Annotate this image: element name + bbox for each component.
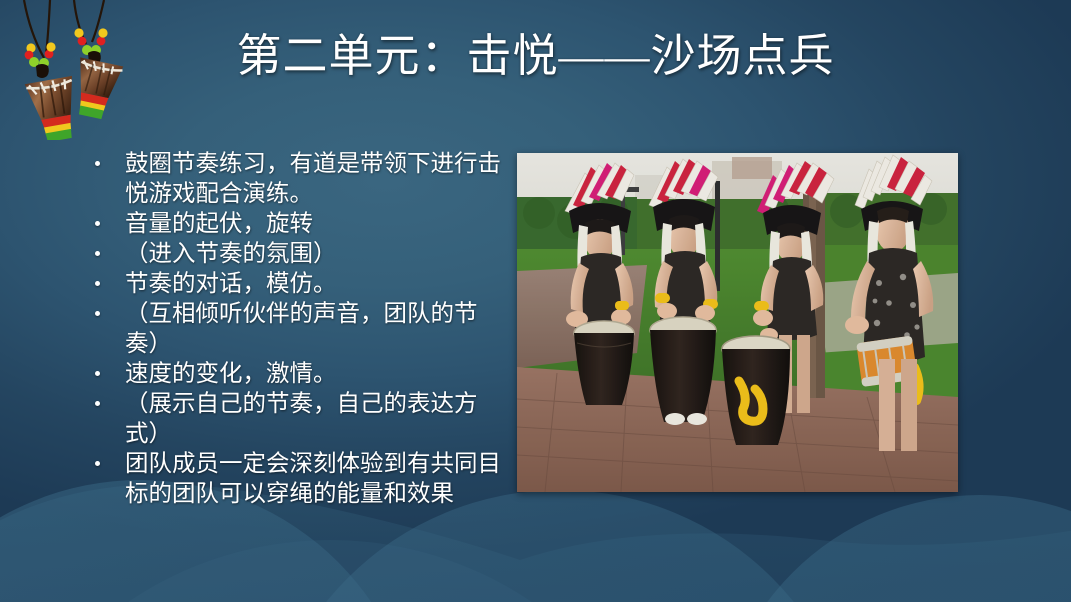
list-item: 速度的变化，激情。 — [90, 359, 510, 389]
presentation-slide: 第二单元：击悦——沙场点兵 鼓圈节奏练习，有道是带领下进行击悦游戏配合演练。 音… — [0, 0, 1071, 602]
list-item-label: 团队成员一定会深刻体验到有共同目标的团队可以穿绳的能量和效果 — [125, 449, 510, 509]
list-item-label: （进入节奏的氛围） — [125, 239, 510, 269]
list-item: （进入节奏的氛围） — [90, 239, 510, 269]
list-item-label: 鼓圈节奏练习，有道是带领下进行击悦游戏配合演练。 — [125, 149, 510, 209]
list-item: （互相倾听伙伴的声音，团队的节奏） — [90, 299, 510, 359]
list-item-label: （展示自己的节奏，自己的表达方式） — [125, 389, 510, 449]
list-item: 音量的起伏，旋转 — [90, 209, 510, 239]
list-item: 节奏的对话，模仿。 — [90, 269, 510, 299]
list-item-label: 音量的起伏，旋转 — [125, 209, 510, 239]
list-item-label: 节奏的对话，模仿。 — [125, 269, 510, 299]
drum-circle-photo — [517, 153, 958, 492]
bullet-marker-icon — [90, 209, 125, 239]
list-item: 团队成员一定会深刻体验到有共同目标的团队可以穿绳的能量和效果 — [90, 449, 510, 509]
bullet-marker-icon — [90, 359, 125, 389]
bullet-marker-icon — [90, 389, 125, 419]
bullet-list: 鼓圈节奏练习，有道是带领下进行击悦游戏配合演练。 音量的起伏，旋转 （进入节奏的… — [90, 149, 510, 509]
list-item: 鼓圈节奏练习，有道是带领下进行击悦游戏配合演练。 — [90, 149, 510, 209]
slide-title: 第二单元：击悦——沙场点兵 — [0, 32, 1071, 82]
list-item: （展示自己的节奏，自己的表达方式） — [90, 389, 510, 449]
list-item-label: 速度的变化，激情。 — [125, 359, 510, 389]
bullet-marker-icon — [90, 299, 125, 329]
bullet-marker-icon — [90, 269, 125, 299]
bullet-marker-icon — [90, 239, 125, 269]
list-item-label: （互相倾听伙伴的声音，团队的节奏） — [125, 299, 510, 359]
bullet-marker-icon — [90, 449, 125, 479]
bullet-marker-icon — [90, 149, 125, 179]
